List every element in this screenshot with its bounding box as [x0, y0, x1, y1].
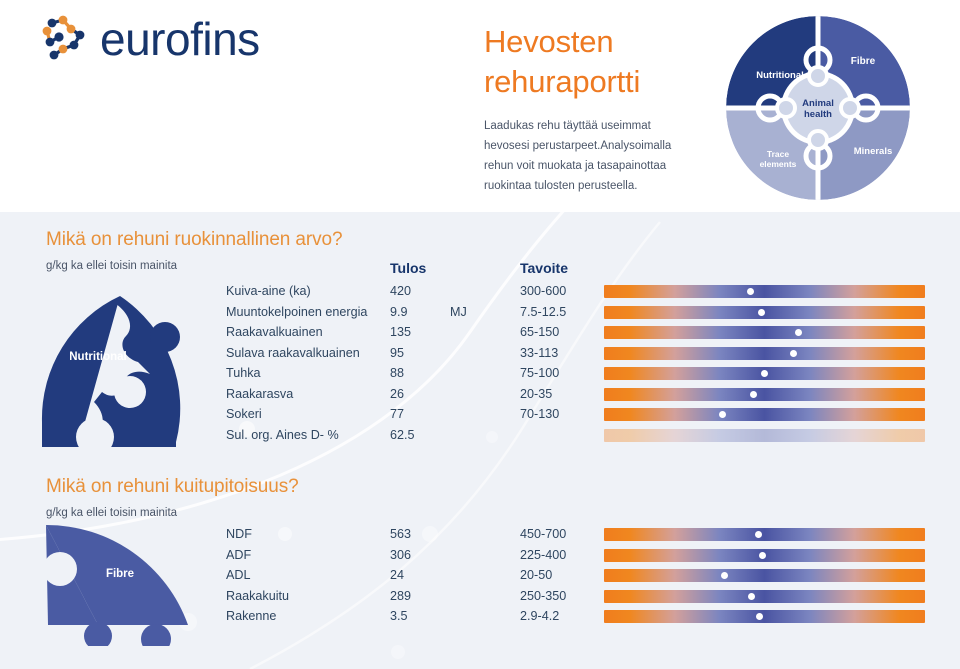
- row-result-value: 26: [390, 387, 404, 401]
- gauge-marker-dot: [721, 572, 728, 579]
- table-rows-nutritional: Kuiva-aine (ka)420300-600Muuntokelpoinen…: [0, 284, 960, 448]
- column-header-target-1: Tavoite: [520, 260, 568, 276]
- feed-report-page: eurofins Hevosten rehuraportti Laadukas …: [0, 0, 960, 669]
- table-row: Raakarasva2620-35: [0, 387, 960, 408]
- row-parameter-name: Raakarasva: [226, 387, 293, 401]
- gauge-bar: [604, 388, 925, 401]
- gauge-marker-dot: [747, 288, 754, 295]
- table-row: Rakenne3.52.9-4.2: [0, 609, 960, 630]
- section-1-title: Mikä on rehuni ruokinnallinen arvo?: [46, 229, 342, 251]
- table-row: Kuiva-aine (ka)420300-600: [0, 284, 960, 305]
- wheel-label-fibre: Fibre: [851, 56, 876, 67]
- row-result-value: 135: [390, 325, 411, 339]
- row-parameter-name: Tuhka: [226, 366, 261, 380]
- wheel-label-elements: elements: [760, 159, 797, 169]
- table-row: ADL2420-50: [0, 568, 960, 589]
- row-target-range: 20-50: [520, 568, 552, 582]
- row-target-range: 300-600: [520, 284, 566, 298]
- gauge-bar: [604, 429, 925, 442]
- eurofins-molecule-logo-icon: [38, 14, 90, 64]
- wheel-center-label-2: health: [804, 109, 832, 120]
- gauge-bar: [604, 408, 925, 421]
- logo-dots-svg: [38, 14, 90, 64]
- eurofins-logo: eurofins: [38, 14, 260, 64]
- report-title-line-2: rehuraportti: [484, 62, 714, 102]
- row-target-range: 75-100: [520, 366, 559, 380]
- puzzle-wheel-svg: Nutritional Fibre Minerals Trace element…: [718, 16, 918, 201]
- row-result-value: 88: [390, 366, 404, 380]
- row-parameter-name: Sokeri: [226, 407, 262, 421]
- gauge-marker-dot: [755, 531, 762, 538]
- row-result-value: 24: [390, 568, 404, 582]
- row-parameter-name: Muuntokelpoinen energia: [226, 305, 367, 319]
- table-row: Raakakuitu289250-350: [0, 589, 960, 610]
- wheel-label-minerals: Minerals: [854, 146, 893, 157]
- row-target-range: 20-35: [520, 387, 552, 401]
- row-parameter-name: ADL: [226, 568, 251, 582]
- table-row: Sokeri7770-130: [0, 407, 960, 428]
- gauge-bar: [604, 326, 925, 339]
- gauge-marker-dot: [750, 391, 757, 398]
- row-target-range: 7.5-12.5: [520, 305, 566, 319]
- row-result-value: 563: [390, 527, 411, 541]
- gauge-bar: [604, 569, 925, 582]
- row-parameter-name: NDF: [226, 527, 252, 541]
- row-parameter-name: Raakakuitu: [226, 589, 289, 603]
- wheel-label-nutritional: Nutritional: [756, 70, 804, 81]
- row-result-value: 95: [390, 346, 404, 360]
- row-result-value: 289: [390, 589, 411, 603]
- table-rows-fibre: NDF563450-700ADF306225-400ADL2420-50Raak…: [0, 527, 960, 630]
- column-header-result-1: Tulos: [390, 260, 426, 276]
- gauge-bar: [604, 528, 925, 541]
- row-result-value: 9.9: [390, 305, 408, 319]
- row-parameter-name: Sul. org. Aines D- %: [226, 428, 339, 442]
- gauge-marker-dot: [790, 350, 797, 357]
- gauge-marker-dot: [748, 593, 755, 600]
- row-result-value: 77: [390, 407, 404, 421]
- row-target-range: 225-400: [520, 548, 566, 562]
- gauge-marker-dot: [758, 309, 765, 316]
- row-target-range: 250-350: [520, 589, 566, 603]
- gauge-marker-dot: [761, 370, 768, 377]
- report-title-block: Hevosten rehuraportti Laadukas rehu täyt…: [484, 22, 714, 196]
- row-parameter-name: Raakavalkuainen: [226, 325, 323, 339]
- row-parameter-name: ADF: [226, 548, 251, 562]
- wheel-center-label-1: Animal: [802, 98, 834, 109]
- wheel-label-trace: Trace: [767, 149, 789, 159]
- row-result-value: 3.5: [390, 609, 408, 623]
- gauge-marker-dot: [795, 329, 802, 336]
- gauge-marker-dot: [719, 411, 726, 418]
- table-row: Sul. org. Aines D- %62.5: [0, 428, 960, 449]
- table-row: Muuntokelpoinen energia9.9MJ7.5-12.5: [0, 305, 960, 326]
- table-row: Sulava raakavalkuainen9533-113: [0, 346, 960, 367]
- page-header: eurofins Hevosten rehuraportti Laadukas …: [0, 0, 960, 212]
- row-parameter-name: Sulava raakavalkuainen: [226, 346, 360, 360]
- gauge-bar: [604, 285, 925, 298]
- row-target-range: 33-113: [520, 346, 558, 360]
- row-result-value: 306: [390, 548, 411, 562]
- row-parameter-name: Kuiva-aine (ka): [226, 284, 311, 298]
- brand-name: eurofins: [100, 16, 260, 62]
- animal-health-puzzle-wheel: Nutritional Fibre Minerals Trace element…: [718, 16, 918, 201]
- gauge-bar: [604, 590, 925, 603]
- report-description: Laadukas rehu täyttää useimmat hevosesi …: [484, 117, 699, 196]
- table-row: Tuhka8875-100: [0, 366, 960, 387]
- section-1-unit-note: g/kg ka ellei toisin mainita: [46, 260, 177, 272]
- row-target-range: 65-150: [520, 325, 559, 339]
- table-row: ADF306225-400: [0, 548, 960, 569]
- row-result-value: 420: [390, 284, 411, 298]
- section-2-unit-note: g/kg ka ellei toisin mainita: [46, 507, 177, 519]
- row-target-range: 70-130: [520, 407, 559, 421]
- row-unit: MJ: [450, 305, 467, 319]
- row-result-value: 62.5: [390, 428, 415, 442]
- table-row: NDF563450-700: [0, 527, 960, 548]
- gauge-bar: [604, 610, 925, 623]
- gauge-marker-dot: [759, 552, 766, 559]
- gauge-bar: [604, 549, 925, 562]
- row-target-range: 2.9-4.2: [520, 609, 559, 623]
- row-parameter-name: Rakenne: [226, 609, 276, 623]
- table-row: Raakavalkuainen13565-150: [0, 325, 960, 346]
- gauge-bar: [604, 367, 925, 380]
- section-2-title: Mikä on rehuni kuitupitoisuus?: [46, 476, 299, 498]
- report-body: Mikä on rehuni ruokinnallinen arvo? g/kg…: [0, 212, 960, 669]
- gauge-marker-dot: [756, 613, 763, 620]
- row-target-range: 450-700: [520, 527, 566, 541]
- report-title-line-1: Hevosten: [484, 22, 714, 62]
- gauge-bar: [604, 306, 925, 319]
- gauge-bar: [604, 347, 925, 360]
